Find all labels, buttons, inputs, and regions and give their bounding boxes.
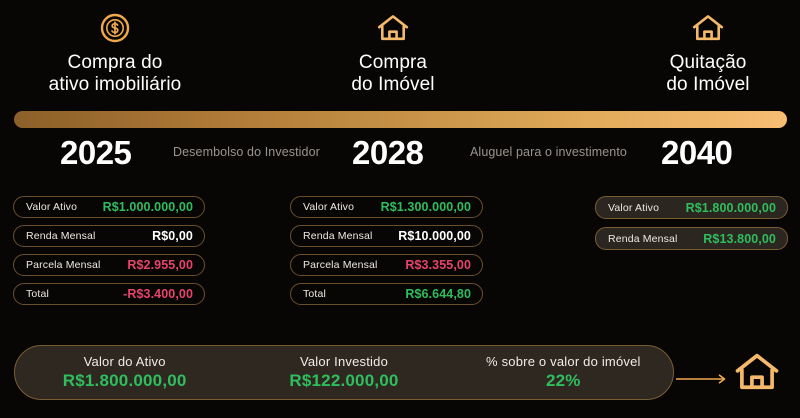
summary-label: Valor do Ativo	[15, 354, 234, 369]
metric-label: Parcela Mensal	[26, 259, 100, 271]
metric-row: Valor Ativo R$1.000.000,00	[13, 196, 205, 218]
house-icon	[628, 8, 788, 48]
milestone-title: Quitação do Imóvel	[628, 52, 788, 96]
summary-value: R$1.800.000,00	[15, 371, 234, 391]
metric-value: R$1.800.000,00	[686, 201, 776, 215]
metric-value: R$10.000,00	[398, 229, 471, 243]
milestone-title: Compra do Imóvel	[318, 52, 468, 96]
house-icon	[733, 350, 781, 399]
metrics-group-1: Valor Ativo R$1.300.000,00 Renda Mensal …	[290, 196, 483, 312]
metric-row: Renda Mensal R$10.000,00	[290, 225, 483, 247]
metric-value: R$1.300.000,00	[381, 200, 471, 214]
summary-value: R$122.000,00	[234, 371, 453, 391]
timeline-year-0: 2025	[60, 134, 131, 172]
metric-label: Renda Mensal	[608, 233, 678, 245]
metric-label: Valor Ativo	[303, 201, 354, 213]
metric-label: Total	[303, 288, 326, 300]
metric-label: Total	[26, 288, 49, 300]
timeline-segment-caption-1: Aluguel para o investimento	[470, 145, 627, 159]
timeline-year-1: 2028	[352, 134, 423, 172]
metric-label: Valor Ativo	[608, 202, 659, 214]
metric-value: R$13.800,00	[703, 232, 776, 246]
metric-value: R$0,00	[152, 229, 193, 243]
summary-cell-invested-value: Valor Investido R$122.000,00	[234, 354, 453, 391]
milestone-0: Compra do ativo imobiliário	[20, 8, 210, 96]
summary-label: % sobre o valor do imóvel	[454, 354, 673, 369]
metric-label: Parcela Mensal	[303, 259, 377, 271]
metric-value: R$2.955,00	[127, 258, 193, 272]
metric-row: Total -R$3.400,00	[13, 283, 205, 305]
timeline-year-2: 2040	[661, 134, 732, 172]
milestone-title: Compra do ativo imobiliário	[20, 52, 210, 96]
metric-label: Valor Ativo	[26, 201, 77, 213]
metric-value: R$1.000.000,00	[103, 200, 193, 214]
timeline-progress-bar	[14, 111, 787, 128]
arrow-right-icon	[676, 371, 728, 381]
milestone-2: Quitação do Imóvel	[628, 8, 788, 96]
metric-row: Total R$6.644,80	[290, 283, 483, 305]
metric-label: Renda Mensal	[303, 230, 373, 242]
summary-bar: Valor do Ativo R$1.800.000,00 Valor Inve…	[14, 345, 674, 400]
metric-value: -R$3.400,00	[123, 287, 193, 301]
coin-dollar-icon	[20, 8, 210, 48]
metric-row: Valor Ativo R$1.800.000,00	[595, 196, 788, 219]
summary-cell-percent-of-property: % sobre o valor do imóvel 22%	[454, 354, 673, 391]
metric-label: Renda Mensal	[26, 230, 96, 242]
metric-row: Renda Mensal R$0,00	[13, 225, 205, 247]
metric-value: R$6.644,80	[405, 287, 471, 301]
metrics-group-0: Valor Ativo R$1.000.000,00 Renda Mensal …	[13, 196, 205, 312]
infographic-canvas: Compra do ativo imobiliário Compra do Im…	[0, 0, 800, 418]
milestone-1: Compra do Imóvel	[318, 8, 468, 96]
metric-value: R$3.355,00	[405, 258, 471, 272]
metric-row: Parcela Mensal R$2.955,00	[13, 254, 205, 276]
summary-cell-asset-value: Valor do Ativo R$1.800.000,00	[15, 354, 234, 391]
metrics-group-2: Valor Ativo R$1.800.000,00 Renda Mensal …	[595, 196, 788, 258]
timeline-segment-caption-0: Desembolso do Investidor	[173, 145, 320, 159]
metric-row: Valor Ativo R$1.300.000,00	[290, 196, 483, 218]
summary-value: 22%	[454, 371, 673, 391]
summary-label: Valor Investido	[234, 354, 453, 369]
house-icon	[318, 8, 468, 48]
metric-row: Renda Mensal R$13.800,00	[595, 227, 788, 250]
metric-row: Parcela Mensal R$3.355,00	[290, 254, 483, 276]
